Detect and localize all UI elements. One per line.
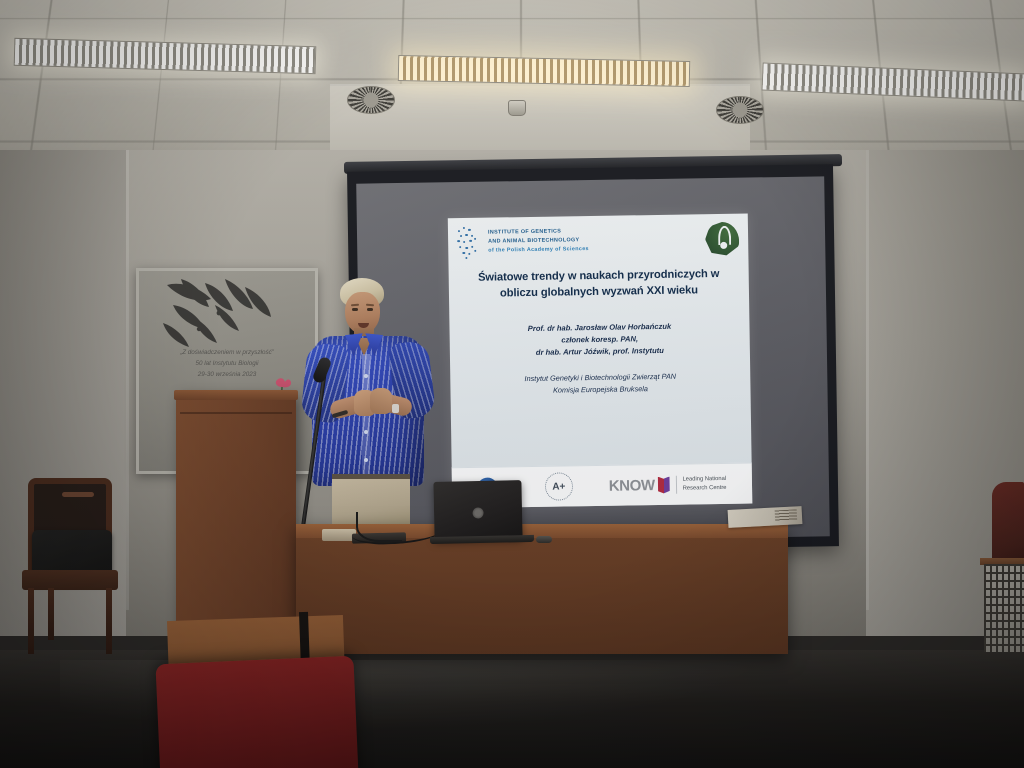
institute-name: INSTITUTE OF GENETICS AND ANIMAL BIOTECH… [488,226,699,256]
know-divider [675,476,676,494]
slide-affiliation: Instytut Genetyki i Biotechnologii Zwier… [450,356,751,398]
know-shield-icon [658,476,670,493]
cable-run-b [356,512,402,542]
speaker-watch [392,404,399,413]
lectern-top [174,390,298,400]
speaker-shirt-button [364,430,368,434]
speaker-eye-left [352,308,358,311]
slide-authors: Prof. dr hab. Jarosław Olav Horbańczuk c… [449,298,750,361]
laptop-brand-logo-icon [472,507,483,518]
know-subtitle: Leading National Research Centre [683,475,727,493]
lecture-room-photo: „Z doświadczeniem w przyszłość” 50 lat I… [0,0,1024,768]
slide-title: Światowe trendy w naukach przyrodniczych… [448,260,749,303]
microphone-base [322,529,356,541]
speaker-shirt-button [364,458,368,462]
chair-leg [28,588,34,654]
biotechnology-leaf-logo-icon [705,221,740,256]
air-diffuser-right-icon [716,96,764,124]
leaf-branch-icon [159,277,279,357]
poster-line-2: 50 lat Instytutu Biologii [139,358,315,369]
computer-mouse [536,536,552,543]
smoke-detector-icon [508,100,526,116]
presentation-slide: INSTITUTE OF GENETICS AND ANIMAL BIOTECH… [448,214,753,509]
chair-leg [106,588,112,654]
speaker-eye-right [367,308,373,311]
know-wordmark: KNOW [609,477,655,495]
slide-header: INSTITUTE OF GENETICS AND ANIMAL BIOTECH… [448,214,749,265]
air-diffuser-left-icon [347,86,395,114]
suspended-ceiling [0,0,1024,168]
red-auditorium-seat [155,656,358,768]
wall-seam-left [126,150,129,610]
speaker-belt [332,474,410,479]
know-logo-icon: KNOW Leading National Research Centre [609,475,727,495]
speaker-shirt-button [364,374,368,378]
laptop-screen [433,480,522,540]
radiator-cover [984,564,1024,652]
wooden-chair-left [18,478,124,654]
hr-excellence-logo-icon: A+ [544,471,574,501]
chair-back-slot [62,492,94,497]
poster-line-1: „Z doświadczeniem w przyszłość” [139,347,315,358]
lectern-groove [180,412,292,414]
chair-leg [48,588,54,640]
speaker-hand-right [370,388,392,414]
know-subtitle-line-2: Research Centre [683,484,727,493]
wall-seam-right [866,150,869,610]
chair-seat [22,570,118,590]
dna-dots-logo-icon [456,225,483,259]
